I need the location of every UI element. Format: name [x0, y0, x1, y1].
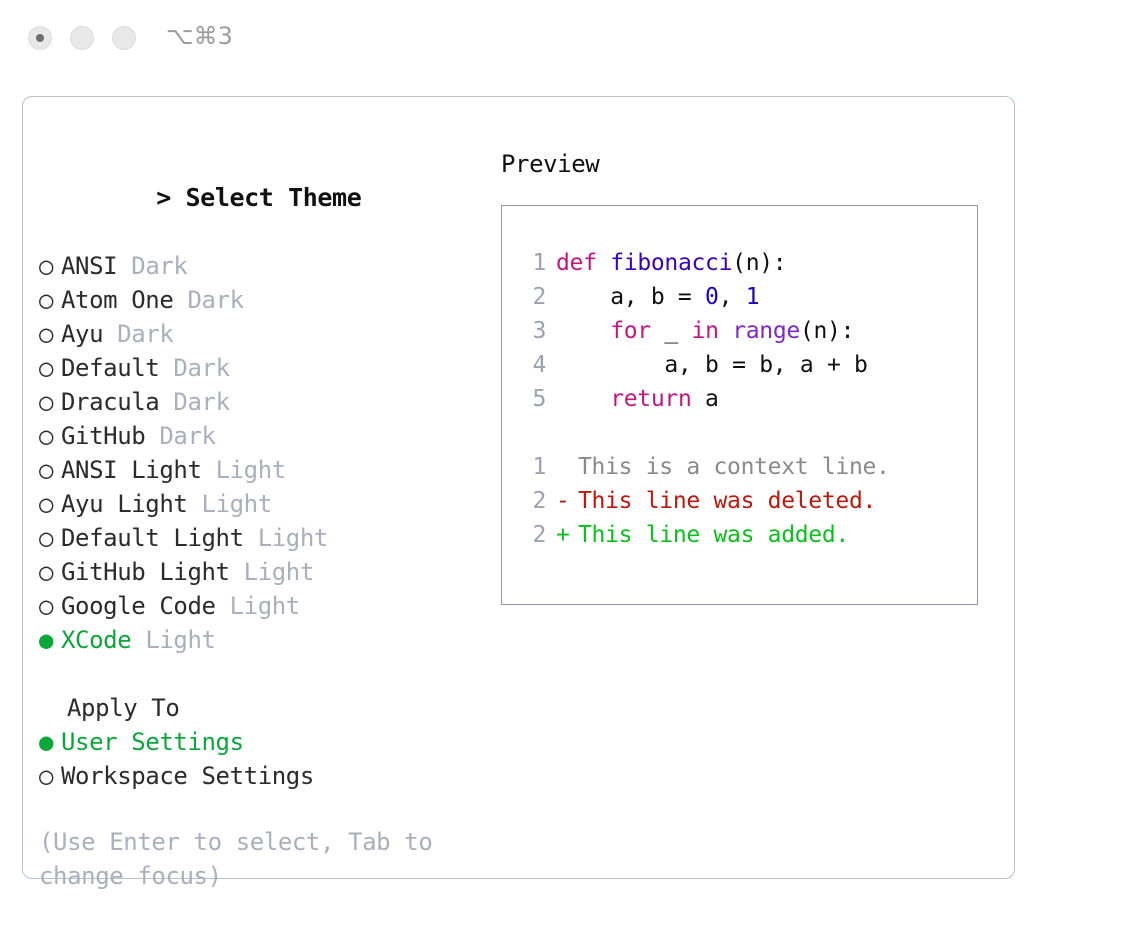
theme-list-item[interactable]: ○GitHub Light Light — [39, 555, 479, 589]
theme-picker-panel: > Select Theme ○ANSI Dark○Atom One Dark○… — [22, 96, 1015, 879]
radio-unselected-icon: ○ — [39, 589, 61, 623]
spacer — [145, 422, 159, 450]
theme-category: Dark — [117, 320, 173, 348]
code-line: 3 for _ in range(n): — [502, 314, 977, 348]
theme-list-item[interactable]: ○ANSI Dark — [39, 249, 479, 283]
apply-to-option[interactable]: ○Workspace Settings — [39, 759, 479, 793]
theme-category: Light — [244, 558, 314, 586]
code-token — [597, 250, 611, 276]
theme-name: Dracula — [61, 388, 159, 416]
window-dot-third-icon[interactable] — [112, 26, 136, 50]
preview-box: 1def fibonacci(n):2 a, b = 0, 13 for _ i… — [501, 205, 978, 605]
code-line: 1def fibonacci(n): — [502, 246, 977, 280]
window-titlebar: ⌥⌘3 — [0, 0, 1140, 78]
diff-line: 2+This line was added. — [502, 518, 977, 552]
preview-title: Preview — [501, 147, 1001, 181]
code-line-number: 2 — [520, 280, 546, 314]
spacer — [216, 592, 230, 620]
theme-list-item[interactable]: ○ANSI Light Light — [39, 453, 479, 487]
diff-line-number: 1 — [520, 450, 546, 484]
apply-to-section: Apply To ●User Settings○Workspace Settin… — [39, 691, 479, 793]
theme-list-item[interactable]: ○Default Light Light — [39, 521, 479, 555]
code-token: , — [719, 284, 746, 310]
spacer — [131, 626, 145, 654]
diff-marker-icon — [556, 450, 578, 484]
apply-to-header: Apply To — [39, 691, 479, 725]
apply-to-label: Workspace Settings — [61, 762, 314, 790]
code-token — [556, 318, 610, 344]
theme-category: Light — [202, 490, 272, 518]
code-token: a — [692, 386, 719, 412]
diff-text: This line was deleted. — [578, 488, 876, 514]
theme-list-item[interactable]: ○Dracula Dark — [39, 385, 479, 419]
theme-list-item[interactable]: ○Default Dark — [39, 351, 479, 385]
code-token: range — [732, 318, 800, 344]
theme-category: Dark — [173, 388, 229, 416]
theme-name: Atom One — [61, 286, 173, 314]
theme-selection-column: > Select Theme ○ANSI Dark○Atom One Dark○… — [39, 147, 479, 893]
theme-name: Ayu Light — [61, 490, 187, 518]
diff-line: 1 This is a context line. — [502, 450, 977, 484]
spacer — [230, 558, 244, 586]
radio-unselected-icon: ○ — [39, 385, 61, 419]
code-token — [719, 318, 733, 344]
radio-unselected-icon: ○ — [39, 453, 61, 487]
select-theme-header: > Select Theme — [39, 147, 479, 249]
apply-to-option[interactable]: ●User Settings — [39, 725, 479, 759]
theme-list: ○ANSI Dark○Atom One Dark○Ayu Dark○Defaul… — [39, 249, 479, 657]
code-token: a, b = — [556, 284, 705, 310]
apply-to-options: ●User Settings○Workspace Settings — [39, 725, 479, 793]
theme-name: Google Code — [61, 592, 216, 620]
theme-list-item[interactable]: ○Ayu Light Light — [39, 487, 479, 521]
theme-name: Default — [61, 354, 159, 382]
select-theme-title: Select Theme — [186, 183, 362, 212]
theme-name: ANSI Light — [61, 456, 202, 484]
code-token: in — [692, 318, 719, 344]
spacer — [187, 490, 201, 518]
spacer — [159, 388, 173, 416]
code-line-number: 5 — [520, 382, 546, 416]
diff-line-number: 2 — [520, 518, 546, 552]
window-dot-active-center-icon — [36, 34, 44, 42]
theme-category: Dark — [173, 354, 229, 382]
code-line: 2 a, b = 0, 1 — [502, 280, 977, 314]
radio-unselected-icon: ○ — [39, 317, 61, 351]
code-line: 4 a, b = b, a + b — [502, 348, 977, 382]
theme-category: Light — [145, 626, 215, 654]
theme-name: GitHub — [61, 422, 145, 450]
radio-unselected-icon: ○ — [39, 555, 61, 589]
radio-unselected-icon: ○ — [39, 521, 61, 555]
code-token: 1 — [746, 284, 760, 310]
code-token: (n): — [800, 318, 854, 344]
theme-name: Ayu — [61, 320, 103, 348]
theme-category: Light — [216, 456, 286, 484]
code-line-number: 4 — [520, 348, 546, 382]
code-line-number: 3 — [520, 314, 546, 348]
spacer — [103, 320, 117, 348]
diff-marker-icon: - — [556, 484, 578, 518]
diff-line: 2-This line was deleted. — [502, 484, 977, 518]
prompt-caret-icon: > — [156, 183, 171, 212]
radio-selected-icon: ● — [39, 623, 61, 657]
theme-list-item[interactable]: ○Google Code Light — [39, 589, 479, 623]
code-line-number: 1 — [520, 246, 546, 280]
window-controls — [28, 26, 136, 50]
preview-column: Preview 1def fibonacci(n):2 a, b = 0, 13… — [501, 147, 1001, 605]
apply-to-label: User Settings — [61, 728, 244, 756]
spacer — [244, 524, 258, 552]
keyboard-shortcut-label: ⌥⌘3 — [166, 22, 233, 50]
theme-list-item[interactable]: ○GitHub Dark — [39, 419, 479, 453]
theme-category: Dark — [131, 252, 187, 280]
code-sample: 1def fibonacci(n):2 a, b = 0, 13 for _ i… — [502, 246, 977, 416]
theme-category: Dark — [187, 286, 243, 314]
spacer — [159, 354, 173, 382]
window-dot-second-icon[interactable] — [70, 26, 94, 50]
code-token: a, b = b, a + b — [556, 352, 868, 378]
keyboard-hint-text: (Use Enter to select, Tab to change focu… — [39, 825, 449, 893]
radio-unselected-icon: ○ — [39, 351, 61, 385]
radio-unselected-icon: ○ — [39, 249, 61, 283]
code-token: (n): — [732, 250, 786, 276]
diff-marker-icon: + — [556, 518, 578, 552]
radio-unselected-icon: ○ — [39, 759, 61, 793]
radio-unselected-icon: ○ — [39, 419, 61, 453]
code-token: _ — [651, 318, 692, 344]
theme-category: Light — [258, 524, 328, 552]
theme-list-item[interactable]: ○Ayu Dark — [39, 317, 479, 351]
theme-category: Dark — [159, 422, 215, 450]
diff-text: This is a context line. — [578, 454, 890, 480]
code-token: 0 — [705, 284, 719, 310]
theme-list-item[interactable]: ●XCode Light — [39, 623, 479, 657]
diff-sample: 1 This is a context line.2-This line was… — [502, 450, 977, 552]
preview-spacer — [502, 416, 977, 450]
window-dot-active-icon[interactable] — [28, 26, 52, 50]
radio-unselected-icon: ○ — [39, 487, 61, 521]
radio-selected-icon: ● — [39, 725, 61, 759]
code-token: for — [610, 318, 651, 344]
code-token: def — [556, 250, 597, 276]
code-token: return — [610, 386, 691, 412]
code-token — [556, 386, 610, 412]
theme-name: GitHub Light — [61, 558, 230, 586]
spacer — [173, 286, 187, 314]
diff-text: This line was added. — [578, 522, 849, 548]
spacer — [117, 252, 131, 280]
theme-name: XCode — [61, 626, 131, 654]
theme-category: Light — [230, 592, 300, 620]
theme-name: ANSI — [61, 252, 117, 280]
spacer — [202, 456, 216, 484]
theme-name: Default Light — [61, 524, 244, 552]
code-line: 5 return a — [502, 382, 977, 416]
code-token: fibonacci — [610, 250, 732, 276]
radio-unselected-icon: ○ — [39, 283, 61, 317]
app-window: ⌥⌘3 > Select Theme ○ANSI Dark○Atom One D… — [0, 0, 1140, 934]
diff-line-number: 2 — [520, 484, 546, 518]
theme-list-item[interactable]: ○Atom One Dark — [39, 283, 479, 317]
